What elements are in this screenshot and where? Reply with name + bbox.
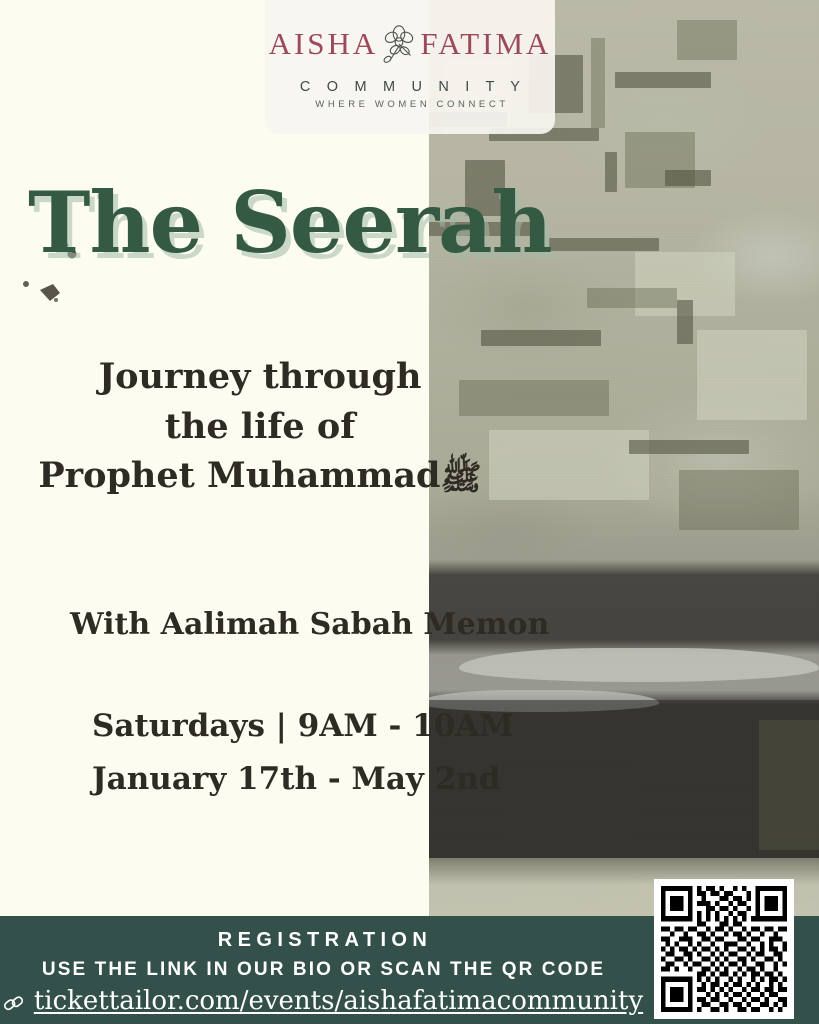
schedule-dates: January 17th - May 2nd xyxy=(92,753,514,806)
building-shape xyxy=(665,170,711,186)
page-title: The Seerah xyxy=(28,181,552,265)
building-shape xyxy=(629,440,749,454)
schedule-block: Saturdays | 9AM - 10AM January 17th - Ma… xyxy=(92,700,514,805)
registration-link-row[interactable]: tickettailor.com/events/aishafatimacommu… xyxy=(0,986,645,1017)
building-shape xyxy=(677,20,737,60)
aisha-fatima-community-logo: AISHA FATIMA C O M M U N I T Y WHERE WOM… xyxy=(265,0,555,134)
building-shape xyxy=(481,330,601,346)
logo-tagline-text: WHERE WOMEN CONNECT xyxy=(311,100,508,110)
salla-allahu-alayhi-wa-sallam-glyph: ﷺ xyxy=(441,458,482,498)
torn-paper-edge xyxy=(0,0,260,1024)
speaker-line: With Aalimah Sabah Memon xyxy=(70,610,549,640)
building-shape xyxy=(697,330,807,420)
building-shape xyxy=(615,72,711,88)
event-flyer: AISHA FATIMA C O M M U N I T Y WHERE WOM… xyxy=(0,0,819,1024)
qr-canvas xyxy=(661,886,787,1012)
schedule-time: Saturdays | 9AM - 10AM xyxy=(92,700,514,753)
building-shape xyxy=(679,470,799,530)
registration-subtitle: USE THE LINK IN OUR BIO OR SCAN THE QR C… xyxy=(0,960,645,979)
subtitle-line-1: Journey through xyxy=(0,352,520,402)
logo-wordmark: AISHA FATIMA xyxy=(265,21,555,67)
building-shape xyxy=(677,300,693,344)
building-shape xyxy=(759,720,819,850)
subtitle-line-3: Prophet Muhammad xyxy=(38,455,440,496)
subtitle-block: Journey through the life of Prophet Muha… xyxy=(0,352,520,501)
building-shape xyxy=(605,152,617,192)
registration-url[interactable]: tickettailor.com/events/aishafatimacommu… xyxy=(34,986,643,1017)
vintage-mecca-kaaba-photograph xyxy=(429,0,819,1024)
registration-title: REGISTRATION xyxy=(0,930,645,950)
building-shape xyxy=(549,238,659,251)
logo-word-aisha: AISHA xyxy=(269,28,379,59)
kaaba-kiswah-band xyxy=(459,648,819,682)
building-shape xyxy=(587,288,677,308)
logo-community-text: C O M M U N I T Y xyxy=(294,80,526,95)
registration-qr-code[interactable] xyxy=(654,879,794,1019)
building-shape xyxy=(591,38,605,128)
orchid-flower-icon xyxy=(376,21,422,67)
logo-word-fatima: FATIMA xyxy=(420,28,551,59)
chain-link-icon xyxy=(2,992,25,1015)
subtitle-line-3-wrap: Prophet Muhammadﷺ xyxy=(0,451,520,501)
subtitle-line-2: the life of xyxy=(0,402,520,452)
